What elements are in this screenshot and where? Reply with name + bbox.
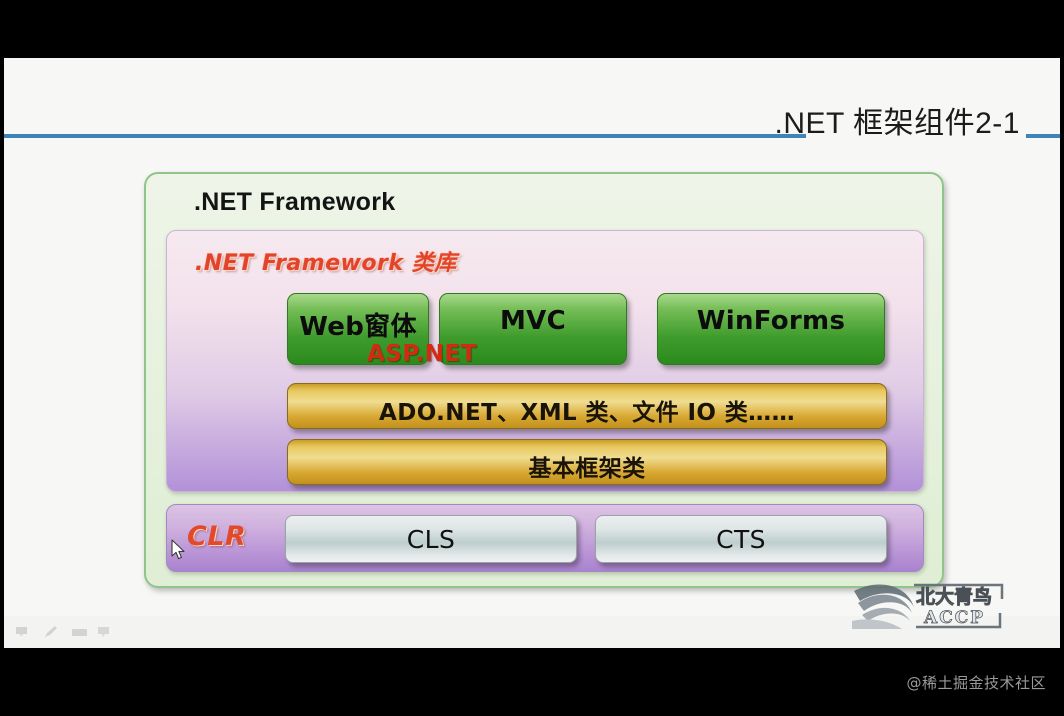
highlighter-tool-icon[interactable] <box>96 624 114 645</box>
box-data-classes[interactable]: ADO.NET、XML 类、文件 IO 类…… <box>287 383 887 429</box>
framework-label: .NET Framework <box>194 188 395 217</box>
accp-logo: 北大青鸟 ACCP <box>850 577 1030 633</box>
box-mvc-label: MVC <box>440 306 626 336</box>
box-base-framework-classes-label: 基本框架类 <box>288 449 886 483</box>
presentation-layer-row: Web窗体 MVC WinForms ASP.NET <box>167 293 925 373</box>
svg-text:ACCP: ACCP <box>923 608 985 628</box>
class-library-container: .NET Framework 类库 Web窗体 MVC WinForms ASP… <box>166 230 924 492</box>
pen-tool-icon[interactable] <box>42 624 60 645</box>
aspnet-overlay-label: ASP.NET <box>367 341 477 367</box>
box-cts-label: CTS <box>596 525 886 554</box>
slide-canvas: .NET 框架组件2-1 .NET Framework .NET Framewo… <box>4 58 1060 648</box>
page-title: .NET 框架组件2-1 <box>775 98 1021 142</box>
player-top-letterbox <box>0 0 1064 58</box>
eraser-tool-icon[interactable] <box>70 624 90 645</box>
svg-text:北大青鸟: 北大青鸟 <box>916 585 992 608</box>
box-base-framework-classes[interactable]: 基本框架类 <box>287 439 887 485</box>
box-winforms-label: WinForms <box>658 306 884 336</box>
class-library-label: .NET Framework 类库 <box>195 245 457 277</box>
site-watermark: @稀土掘金技术社区 <box>906 672 1046 693</box>
box-data-classes-label: ADO.NET、XML 类、文件 IO 类…… <box>288 393 886 427</box>
title-rule-left <box>4 134 806 138</box>
box-cls-label: CLS <box>286 525 576 554</box>
slide-title-row: .NET 框架组件2-1 <box>4 82 1060 140</box>
clr-container: CLR CLS CTS <box>166 504 924 572</box>
box-web-forms-label: Web窗体 <box>288 306 428 343</box>
box-winforms[interactable]: WinForms <box>657 293 885 365</box>
box-cls[interactable]: CLS <box>285 515 577 563</box>
clr-label: CLR <box>187 521 246 552</box>
title-rule-right <box>1026 134 1060 138</box>
dotnet-framework-container: .NET Framework .NET Framework 类库 Web窗体 M… <box>144 172 944 588</box>
pointer-tool-icon[interactable] <box>14 624 32 645</box>
video-player: .NET 框架组件2-1 .NET Framework .NET Framewo… <box>0 0 1064 716</box>
player-bottom-letterbox: @稀土掘金技术社区 <box>0 648 1064 716</box>
mouse-cursor-icon <box>171 539 187 561</box>
box-cts[interactable]: CTS <box>595 515 887 563</box>
